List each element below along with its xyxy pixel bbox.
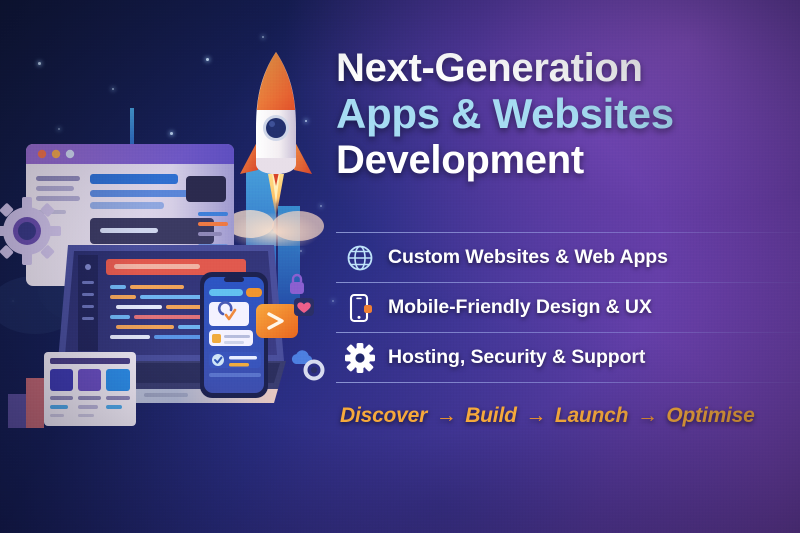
promo-banner: Next-Generation Apps & Websites Developm… [0, 0, 800, 533]
feature-label: Custom Websites & Web Apps [388, 246, 668, 269]
feature-divider [336, 382, 800, 383]
smartphone-icon [340, 293, 380, 323]
arrow-icon: → [634, 404, 661, 427]
process-step: Build [465, 404, 517, 427]
process-step: Discover [340, 404, 427, 427]
lock-icon [286, 272, 308, 298]
process-step: Optimise [666, 404, 754, 427]
headline-line-2: Apps & Websites [336, 93, 782, 135]
feature-label: Hosting, Security & Support [388, 346, 645, 369]
rocket-illustration [228, 46, 324, 246]
arrow-icon: → [433, 404, 460, 427]
feature-item-hosting: Hosting, Security & Support [336, 333, 800, 382]
headline-line-1: Next-Generation [336, 48, 782, 88]
heart-icon [292, 296, 316, 318]
feature-list: Custom Websites & Web Apps Mobile-Friend… [336, 232, 800, 383]
feature-label: Mobile-Friendly Design & UX [388, 296, 652, 319]
globe-icon [340, 244, 380, 272]
headline-block: Next-Generation Apps & Websites Developm… [336, 48, 782, 180]
arrow-icon: → [522, 404, 549, 427]
gear-icon [340, 343, 380, 373]
gear-decoration [0, 196, 62, 266]
headline-line-3: Development [336, 140, 782, 180]
feature-item-websites: Custom Websites & Web Apps [336, 233, 800, 282]
small-gear-icon [300, 356, 328, 384]
tablet-card-mockup [42, 350, 138, 430]
process-steps: Discover → Build → Launch → Optimise [340, 404, 755, 428]
bar-chart-blocks [6, 368, 54, 430]
feature-item-mobile: Mobile-Friendly Design & UX [336, 283, 800, 332]
process-step: Launch [555, 404, 628, 427]
